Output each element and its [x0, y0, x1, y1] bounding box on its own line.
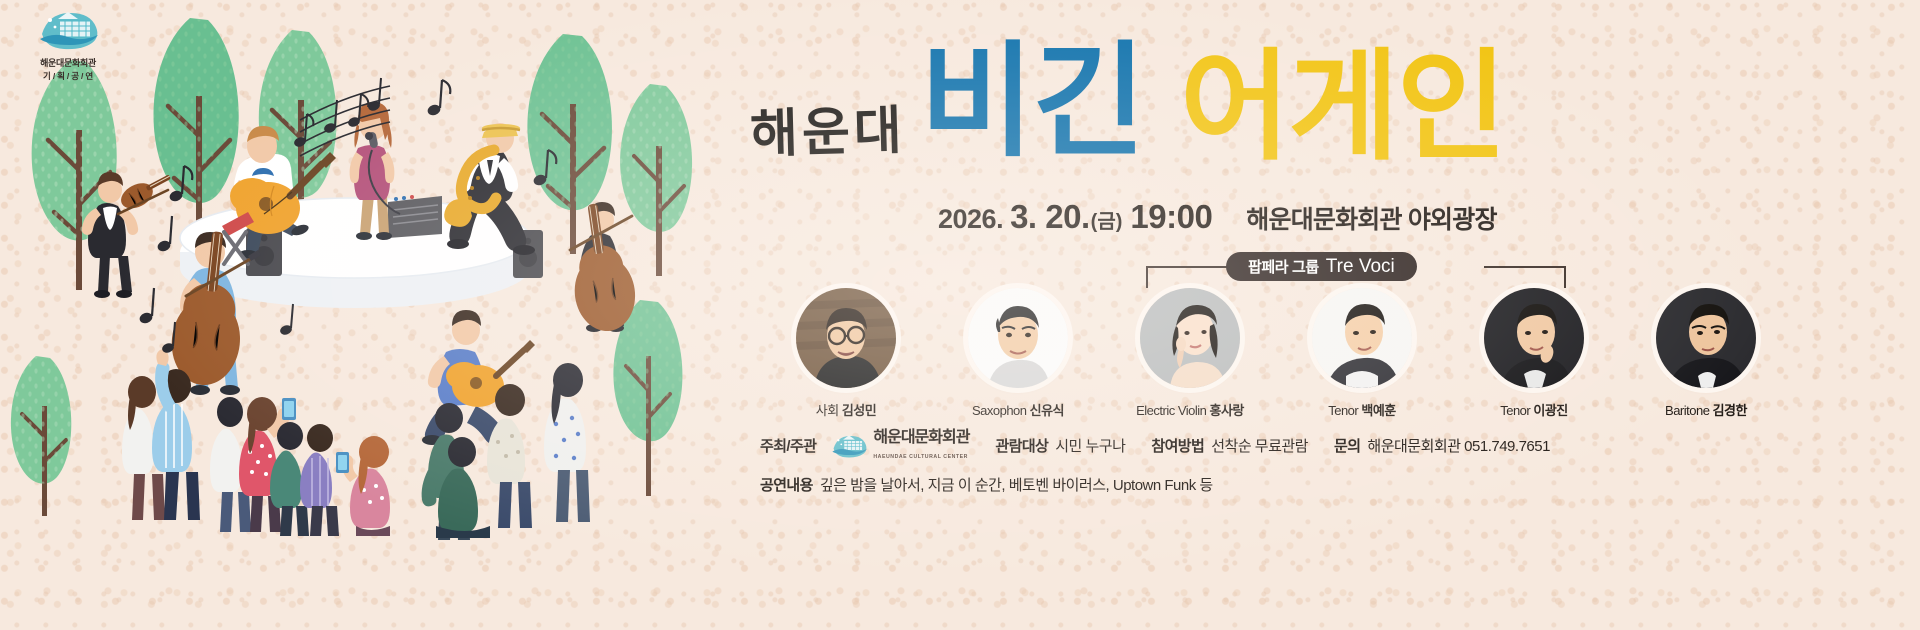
event-info-line-1: 주최/주관 해운대문화회관 HAEUNDAE CULTURA	[760, 430, 1920, 462]
audience-person	[544, 363, 590, 522]
badge-bracket-right	[1484, 266, 1566, 268]
music-note	[138, 288, 154, 325]
event-info-line-2: 공연내용 깊은 밤을 날아서, 지금 이 순간, 베토벤 바이러스, Uptow…	[760, 474, 1920, 495]
contact-label: 문의	[1334, 435, 1360, 456]
schedule-venue: 해운대문화회관 야외광장	[1246, 200, 1496, 236]
haeundae-cultural-center-mark-small	[830, 433, 868, 458]
audience-label: 관람대상	[995, 435, 1048, 456]
performer-name: 사회 김성민	[760, 400, 932, 419]
audience-person-sitting	[336, 436, 390, 536]
group-badge-wrap: 팝페라 그룹 Tre Voci	[1146, 252, 1566, 286]
performer-card: Baritone 김경한	[1620, 288, 1792, 419]
performer-photo	[968, 288, 1068, 388]
venue-logo: 해운대문화회관 기 / 획 / 공 / 연	[22, 8, 114, 82]
audience-value: 시민 누구나	[1055, 435, 1125, 456]
tree	[11, 356, 71, 516]
performer-card: Electric Violin 홍사랑	[1104, 288, 1276, 419]
performer-card: Tenor 백예훈	[1276, 288, 1448, 419]
music-note	[367, 78, 381, 112]
portrait-violinist	[1140, 288, 1240, 388]
portrait-saxophonist	[968, 288, 1068, 388]
music-note	[156, 216, 172, 253]
performer-name: Saxophon 신유식	[932, 400, 1104, 419]
schedule-time: 19:00	[1130, 198, 1212, 236]
schedule-dayofweek: (금)	[1091, 205, 1123, 234]
music-note	[426, 80, 450, 117]
portrait-host-glasses	[796, 288, 896, 388]
performer-photo	[1484, 288, 1584, 388]
title-prefix: 해운대	[749, 88, 906, 167]
badge-bracket-left	[1146, 266, 1228, 268]
haeundae-cultural-center-mark	[36, 8, 100, 50]
performer-card: 사회 김성민	[760, 288, 932, 419]
performer-photo	[1656, 288, 1756, 388]
performer-name: Baritone 김경한	[1620, 400, 1792, 419]
poster-canvas: 해운대문화회관 기 / 획 / 공 / 연 해운대 비긴 어게인 2026. 3…	[0, 0, 1920, 630]
music-note	[161, 322, 175, 354]
performer-name: Electric Violin 홍사랑	[1104, 400, 1276, 419]
title-main-blue: 비긴	[920, 40, 1144, 164]
method-label: 참여방법	[1151, 435, 1204, 456]
music-note	[279, 304, 293, 336]
performer-photo	[796, 288, 896, 388]
tree	[620, 84, 692, 276]
performer-photo	[1312, 288, 1412, 388]
program-value: 깊은 밤을 날아서, 지금 이 순간, 베토벤 바이러스, Uptown Fun…	[820, 474, 1213, 495]
amplifier	[388, 195, 442, 238]
title-main-yellow: 어게인	[1180, 48, 1505, 168]
venue-logo-name: 해운대문화회관	[22, 56, 114, 69]
venue-logo-sub: 기 / 획 / 공 / 연	[22, 70, 114, 82]
schedule-day: 3. 20.	[1010, 198, 1090, 236]
group-badge-latin: Tre Voci	[1326, 256, 1395, 278]
performer-name: Tenor 백예훈	[1276, 400, 1448, 419]
schedule-year: 2026.	[938, 204, 1003, 235]
performer-list: 사회 김성민	[760, 288, 1920, 419]
portrait-tenor-2	[1484, 288, 1584, 388]
audience-person	[487, 384, 532, 528]
performer-photo	[1140, 288, 1240, 388]
group-badge: 팝페라 그룹 Tre Voci	[1226, 252, 1417, 281]
portrait-tenor-1	[1312, 288, 1412, 388]
poster-title: 해운대 비긴 어게인	[760, 52, 1920, 192]
method-value: 선착순 무료관람	[1211, 435, 1308, 456]
group-badge-korean: 팝페라 그룹	[1248, 256, 1319, 277]
host-logo-en: HAEUNDAE CULTURAL CENTER	[873, 454, 968, 460]
event-info: 주최/주관 해운대문화회관 HAEUNDAE CULTURA	[760, 430, 1920, 495]
performer-name: Tenor 이광진	[1448, 400, 1620, 419]
host-logo: 해운대문화회관 HAEUNDAE CULTURAL CENTER	[830, 430, 969, 462]
program-label: 공연내용	[760, 474, 813, 495]
performer-card: Tenor 이광진	[1448, 288, 1620, 419]
poster-content: 해운대 비긴 어게인 2026. 3. 20. (금) 19:00 해운대문화회…	[760, 0, 1920, 630]
performer-card: Saxophon 신유식	[932, 288, 1104, 419]
portrait-baritone	[1656, 288, 1756, 388]
host-label: 주최/주관	[760, 435, 816, 456]
host-logo-ko: 해운대문화회관	[873, 429, 969, 446]
contact-value: 해운대문회회관 051.749.7651	[1367, 435, 1550, 456]
badge-bracket-left-tick	[1146, 266, 1148, 288]
badge-bracket-right-tick	[1564, 266, 1566, 288]
schedule-line: 2026. 3. 20. (금) 19:00 해운대문화회관 야외광장	[938, 198, 1497, 236]
tree	[613, 300, 682, 496]
concert-illustration	[0, 0, 760, 630]
